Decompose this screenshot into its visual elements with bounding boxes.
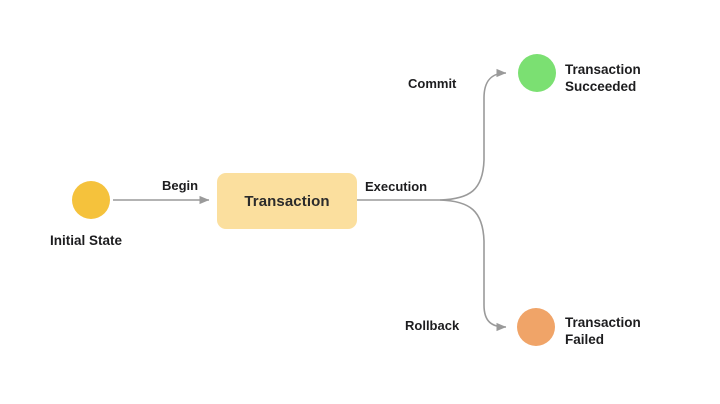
diagram-canvas: Initial State Transaction Transaction Su… [0, 0, 720, 404]
node-label-transaction: Transaction [244, 193, 329, 210]
node-label-transaction-succeeded: Transaction Succeeded [565, 61, 641, 95]
node-label-transaction-failed: Transaction Failed [565, 314, 641, 348]
edge-path-rollback [440, 200, 506, 327]
node-transaction-succeeded[interactable] [518, 54, 556, 92]
edge-label-begin: Begin [162, 178, 198, 193]
edge-label-commit: Commit [408, 76, 456, 91]
node-initial-state[interactable] [72, 181, 110, 219]
node-label-initial-state: Initial State [50, 232, 122, 249]
edge-path-commit [440, 73, 506, 200]
edge-label-rollback: Rollback [405, 318, 459, 333]
edge-label-execution: Execution [365, 179, 427, 194]
node-transaction[interactable]: Transaction [217, 173, 357, 229]
node-transaction-failed[interactable] [517, 308, 555, 346]
